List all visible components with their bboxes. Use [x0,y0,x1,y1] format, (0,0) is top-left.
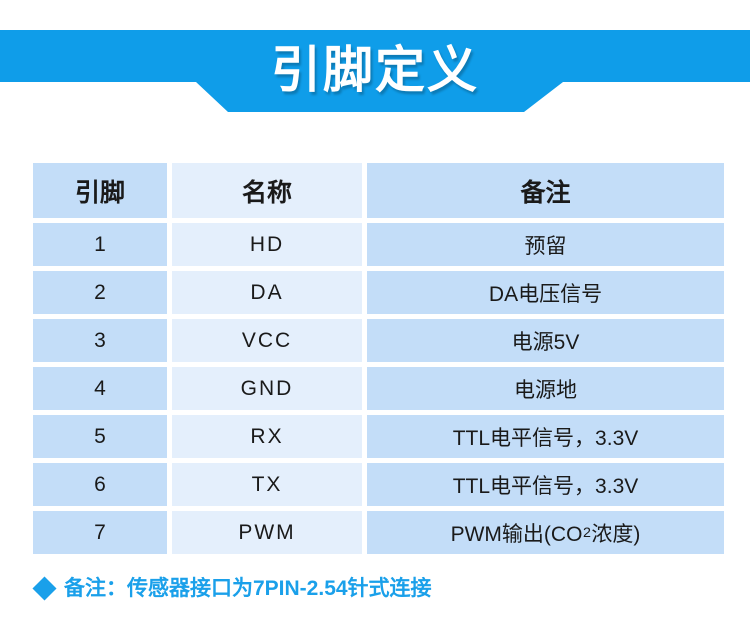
cell-pin: 5 [33,415,167,458]
cell-pin: 6 [33,463,167,506]
cell-name: VCC [172,319,362,362]
cell-name: RX [172,415,362,458]
table-row: 7 PWM PWM输出(CO2浓度) [33,511,724,554]
page-banner: 引脚定义 [0,30,750,112]
cell-note: 预留 [367,223,724,266]
cell-name: HD [172,223,362,266]
cell-pin: 7 [33,511,167,554]
cell-note: 电源5V [367,319,724,362]
table-row: 5 RX TTL电平信号，3.3V [33,415,724,458]
diamond-bullet-icon [32,576,56,600]
cell-note: TTL电平信号，3.3V [367,415,724,458]
footer-note: 备注：传感器接口为7PIN-2.54针式连接 [36,578,432,599]
cell-note-prefix: PWM输出(CO [451,518,583,548]
cell-pin: 1 [33,223,167,266]
cell-pin: 4 [33,367,167,410]
table-row: 4 GND 电源地 [33,367,724,410]
cell-pin: 2 [33,271,167,314]
table-row: 2 DA DA电压信号 [33,271,724,314]
footer-note-text: 备注：传感器接口为7PIN-2.54针式连接 [64,578,432,599]
cell-note: TTL电平信号，3.3V [367,463,724,506]
cell-note: PWM输出(CO2浓度) [367,511,724,554]
column-header-name: 名称 [172,163,362,218]
cell-pin: 3 [33,319,167,362]
cell-note-subscript: 2 [582,525,591,541]
cell-name: TX [172,463,362,506]
cell-note: 电源地 [367,367,724,410]
page-title: 引脚定义 [0,30,750,112]
cell-name: PWM [172,511,362,554]
cell-name: GND [172,367,362,410]
cell-note: DA电压信号 [367,271,724,314]
column-header-pin: 引脚 [33,163,167,218]
pin-definition-table: 引脚 名称 备注 1 HD 预留 2 DA DA电压信号 3 VCC 电源5V … [33,163,724,559]
table-row: 1 HD 预留 [33,223,724,266]
table-row: 3 VCC 电源5V [33,319,724,362]
column-header-note: 备注 [367,163,724,218]
table-header-row: 引脚 名称 备注 [33,163,724,218]
cell-note-suffix: 浓度) [591,518,640,548]
cell-name: DA [172,271,362,314]
table-row: 6 TX TTL电平信号，3.3V [33,463,724,506]
